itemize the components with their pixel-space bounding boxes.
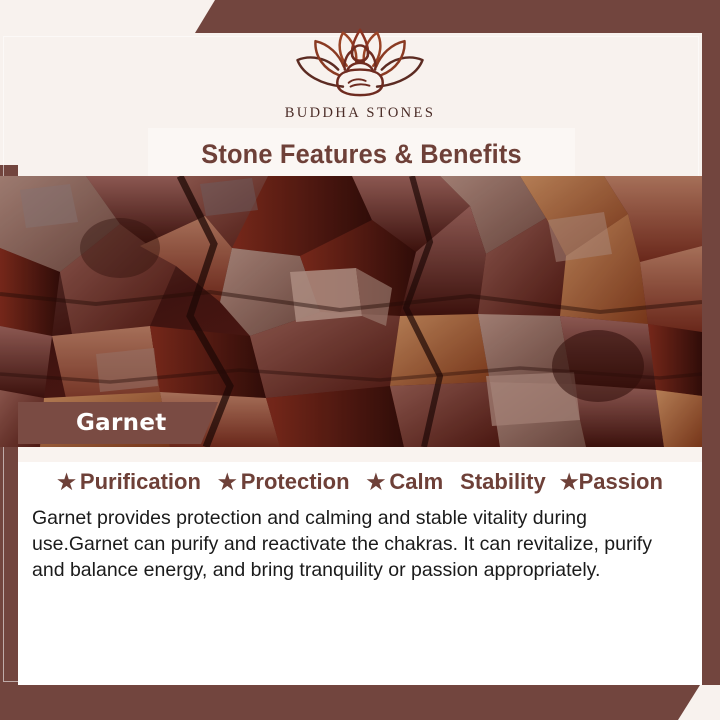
feature-label: Calm xyxy=(389,469,443,495)
brand-name: BUDDHA STONES xyxy=(285,105,436,122)
stone-name-banner: Garnet xyxy=(18,402,218,444)
stone-info-card: BUDDHA STONES Stone Features & Benefits xyxy=(0,0,720,720)
feature-item-purification: ★ Purification xyxy=(57,469,201,495)
brand-logo: BUDDHA STONES xyxy=(0,26,720,122)
star-icon: ★ xyxy=(367,472,386,493)
feature-label: Protection xyxy=(241,469,350,495)
feature-item-calm: ★ Calm xyxy=(367,469,444,495)
feature-label: Purification xyxy=(80,469,201,495)
content-top-strip xyxy=(18,447,702,462)
content-panel: ★ Purification ★ Protection ★ Calm Stabi… xyxy=(18,447,702,685)
feature-label: Stability xyxy=(460,469,546,495)
feature-label: Passion xyxy=(579,469,663,495)
decoration-bottom-bar xyxy=(0,685,700,720)
feature-item-protection: ★ Protection xyxy=(218,469,350,495)
stone-name: Garnet xyxy=(76,410,167,436)
page-title: Stone Features & Benefits xyxy=(201,139,522,170)
features-list: ★ Purification ★ Protection ★ Calm Stabi… xyxy=(18,469,702,495)
lotus-meditation-icon xyxy=(284,26,436,98)
page-title-banner: Stone Features & Benefits xyxy=(148,128,575,180)
feature-item-stability: Stability xyxy=(460,469,546,495)
star-icon: ★ xyxy=(57,472,76,493)
feature-item-passion: ★ Passion xyxy=(560,469,663,495)
description-text: Garnet provides protection and calming a… xyxy=(32,505,688,583)
decoration-right-bar xyxy=(702,33,720,685)
star-icon: ★ xyxy=(560,472,579,493)
star-icon: ★ xyxy=(218,472,237,493)
